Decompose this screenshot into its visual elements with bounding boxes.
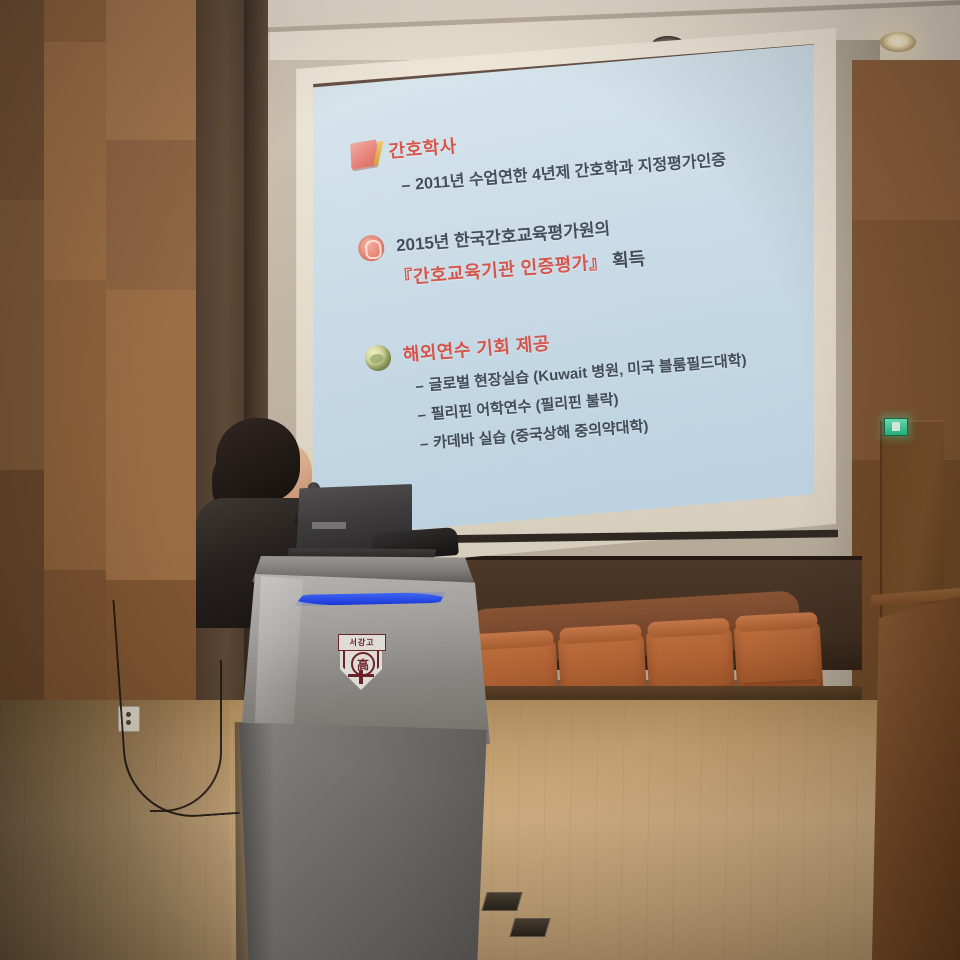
bullet-dash: – xyxy=(419,435,429,453)
slide-block-2-emphasis-suffix: 획득 xyxy=(606,249,646,272)
laptop-logo xyxy=(312,522,346,529)
slide-block-3-item-3-text: 카데바 실습 (중국상해 중의약대학) xyxy=(433,418,649,452)
notepad-pencil-icon xyxy=(350,139,377,169)
wooden-lectern xyxy=(872,596,960,960)
chair-armrest xyxy=(735,612,818,633)
emblem-banner-text: 서강고 xyxy=(349,639,374,647)
exit-sign xyxy=(884,418,908,436)
school-emblem: 서강고 高 xyxy=(338,634,384,690)
projection-screen-surface: 간호학사 –2011년 수업연한 4년제 간호학과 지정평가인증 2015년 한… xyxy=(304,44,814,544)
slide-content: 간호학사 –2011년 수업연한 4년제 간호학과 지정평가인증 2015년 한… xyxy=(304,44,814,544)
slide-block-2-emphasis: 『간호교육기관 인증평가』 xyxy=(394,252,608,289)
globe-icon xyxy=(364,344,392,372)
chair-armrest xyxy=(647,618,730,639)
emblem-character: 高 xyxy=(351,652,375,676)
slide-block-2: 2015년 한국간호교육평가원의 『간호교육기관 인증평가』 획득 xyxy=(357,197,814,293)
slide-block-1: 간호학사 –2011년 수업연한 4년제 간호학과 지정평가인증 xyxy=(350,103,814,199)
slide-block-3-item-2-text: 필리핀 어학연수 (필리핀 불락) xyxy=(430,391,619,423)
bullet-dash: – xyxy=(417,406,427,424)
auditorium-scene: 간호학사 –2011년 수업연한 4년제 간호학과 지정평가인증 2015년 한… xyxy=(0,0,960,960)
emblem-banner: 서강고 xyxy=(338,634,386,651)
emblem-crossbar xyxy=(348,674,374,677)
presenter-hair xyxy=(216,418,300,502)
emblem-stem xyxy=(359,670,363,684)
slide-block-3: 해외연수 기회 제공 –글로벌 현장실습 (Kuwait 병원, 미국 블룸필드… xyxy=(364,306,814,458)
nursing-badge-icon xyxy=(357,234,385,262)
slide-block-1-item-1-text: 2011년 수업연한 4년제 간호학과 지정평가인증 xyxy=(415,152,727,194)
floor-socket-2 xyxy=(509,918,550,937)
podium-body-shading xyxy=(234,722,274,960)
podium: 서강고 高 xyxy=(210,556,500,960)
chair-armrest xyxy=(559,624,642,645)
bullet-dash: – xyxy=(415,377,425,395)
ceiling-downlight-2-lit xyxy=(880,32,916,52)
bullet-dash: – xyxy=(401,177,411,195)
